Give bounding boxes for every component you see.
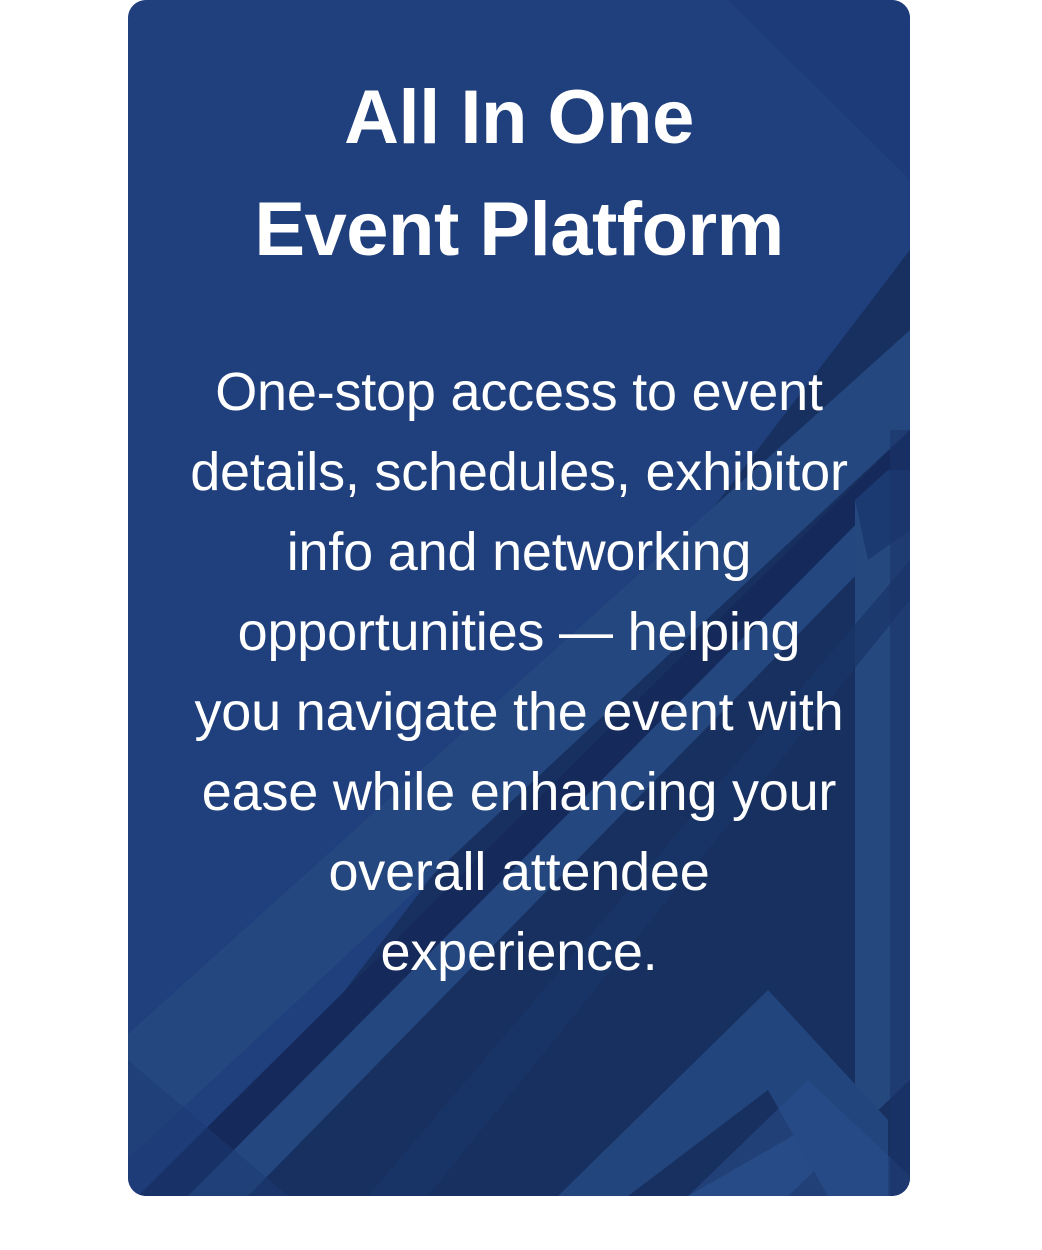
- all-in-one-event-platform-card: All In One Event Platform One-stop acces…: [128, 0, 910, 1196]
- page-title: All In One Event Platform: [254, 62, 783, 286]
- card-content: All In One Event Platform One-stop acces…: [128, 0, 910, 1196]
- card-description: One-stop access to event details, schedu…: [189, 286, 849, 992]
